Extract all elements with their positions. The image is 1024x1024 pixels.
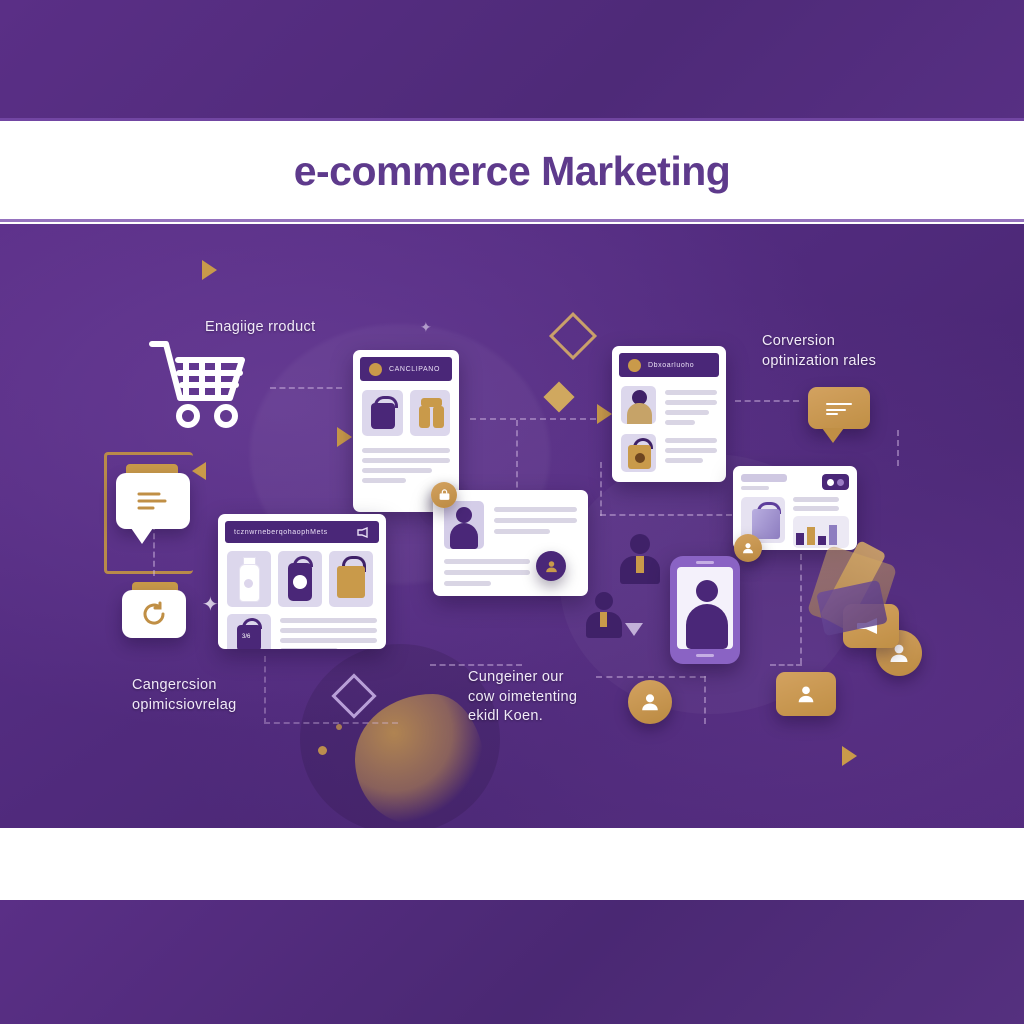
text-line xyxy=(494,518,577,523)
person-thumbnail[interactable] xyxy=(621,386,656,424)
text-line xyxy=(494,507,577,512)
label-conversion-optimization-relag: Cangercsion opimicsiovrelag xyxy=(132,676,236,715)
connector-dash-3 xyxy=(735,400,799,402)
text-line xyxy=(665,410,709,415)
text-line xyxy=(665,400,717,405)
connector-dash-13 xyxy=(430,664,522,666)
product-badge: 3/6 xyxy=(242,634,250,640)
decorative-dot-1 xyxy=(318,746,327,755)
product-grid-header: tcznwrneberqohaophMets xyxy=(234,529,328,536)
product-thumbnail[interactable]: 3/6 xyxy=(227,614,271,649)
text-line xyxy=(665,448,717,453)
sparkle-icon-1: ✦ xyxy=(202,595,219,615)
label-customer-marketing-note: Cungeiner our cow oimetenting ekidl Koen… xyxy=(468,668,577,727)
footer-band: PREMIUM BUSINESS xyxy=(0,900,1024,1024)
profile-avatar-badge[interactable] xyxy=(536,551,566,581)
listing-card-header: Dbxoarluoho xyxy=(648,362,694,369)
product-thumbnail[interactable] xyxy=(329,551,373,607)
connector-dash-10 xyxy=(704,676,706,724)
label-line-2: optinization rales xyxy=(762,352,876,372)
product-thumbnail[interactable] xyxy=(362,390,403,436)
text-line xyxy=(665,458,703,463)
user-avatar-badge[interactable] xyxy=(734,534,762,562)
triangle-accent-2 xyxy=(337,427,352,447)
top-banner-band xyxy=(0,0,1024,121)
profile-card[interactable] xyxy=(433,490,588,596)
text-line xyxy=(444,570,530,575)
text-line xyxy=(444,559,530,564)
user-tile-icon[interactable] xyxy=(776,672,836,716)
text-line xyxy=(362,478,406,483)
page-title: e-commerce Marketing xyxy=(294,151,731,192)
connector-dash-1 xyxy=(270,387,342,389)
text-line xyxy=(741,486,769,490)
connector-dash-2 xyxy=(470,418,596,420)
chat-bubble-tail xyxy=(131,528,153,544)
diamond-outline-1 xyxy=(549,312,597,360)
diamond-filled-1 xyxy=(543,381,574,412)
connector-dash-8 xyxy=(800,554,802,664)
triangle-accent-3 xyxy=(597,404,612,424)
person-thumbnail[interactable] xyxy=(444,501,484,549)
sparkle-icon-2: ✦ xyxy=(420,320,432,334)
catalog-card-header: CANCLIPANO xyxy=(389,366,440,373)
connector-dash-12 xyxy=(897,430,899,466)
text-line xyxy=(280,648,338,649)
briefcase-badge-icon[interactable] xyxy=(431,482,457,508)
text-line xyxy=(665,390,717,395)
label-line-1: Cangercsion xyxy=(132,676,236,696)
title-band: e-commerce Marketing xyxy=(0,121,1024,222)
triangle-accent-5 xyxy=(842,746,857,766)
tablet-user-icon[interactable] xyxy=(670,556,740,664)
product-thumbnail[interactable] xyxy=(227,551,271,607)
decorative-dot-2 xyxy=(336,724,342,730)
label-line-2: opimicsiovrelag xyxy=(132,696,236,716)
chat-bubble-icon[interactable] xyxy=(116,473,190,529)
connector-dash-5 xyxy=(153,524,155,576)
text-line xyxy=(362,448,450,453)
text-line xyxy=(280,628,377,633)
listing-card[interactable]: Dbxoarluoho xyxy=(612,346,726,482)
connector-dash-9 xyxy=(770,664,802,666)
team-person-icon-2 xyxy=(586,592,622,638)
text-line xyxy=(665,420,695,425)
connector-dash-11 xyxy=(596,676,706,678)
text-line xyxy=(280,618,377,623)
text-line xyxy=(665,438,717,443)
label-line-1: Cungeiner our xyxy=(468,668,577,688)
text-line xyxy=(793,506,839,511)
message-bubble-icon[interactable] xyxy=(808,387,870,429)
avatar xyxy=(628,359,641,372)
text-line xyxy=(793,497,839,502)
triangle-accent-4 xyxy=(192,462,206,480)
text-line xyxy=(280,638,377,643)
product-thumbnail[interactable] xyxy=(278,551,322,607)
label-line-2: cow oimetenting xyxy=(468,688,577,708)
label-line-1: Corversion xyxy=(762,332,876,352)
label-line-3: ekidl Koen. xyxy=(468,707,577,727)
shopping-cart-icon xyxy=(148,336,256,432)
bag-thumbnail[interactable] xyxy=(621,434,656,472)
text-line xyxy=(362,468,432,473)
team-person-icon-1 xyxy=(620,534,660,584)
text-line xyxy=(494,529,550,534)
triangle-accent-6 xyxy=(625,623,643,636)
connector-dash-6 xyxy=(600,514,732,516)
text-line xyxy=(444,581,491,586)
label-conversion-optimization-rates: Corversion optinization rales xyxy=(762,332,876,371)
illustration-panel: ✦ ✦ Enagiige rroduct Corversion optiniza… xyxy=(0,224,1024,828)
megaphone-mini-icon xyxy=(356,527,370,538)
avatar xyxy=(369,363,382,376)
person-badge-icon-2[interactable] xyxy=(628,680,672,724)
connector-dash-box xyxy=(264,656,398,724)
triangle-accent-1 xyxy=(202,260,217,280)
poster-canvas: e-commerce Marketing ✦ xyxy=(0,0,1024,1024)
message-bubble-tail xyxy=(822,428,844,443)
dashboard-toggle[interactable] xyxy=(822,474,849,490)
text-line xyxy=(362,458,450,463)
product-grid-card[interactable]: tcznwrneberqohaophMets xyxy=(218,514,386,649)
product-thumbnail[interactable] xyxy=(410,390,451,436)
white-separator xyxy=(0,828,1024,900)
connector-dash-7 xyxy=(600,462,602,516)
label-engage-product: Enagiige rroduct xyxy=(205,318,315,338)
text-line xyxy=(741,474,787,482)
refresh-icon[interactable] xyxy=(122,590,186,638)
